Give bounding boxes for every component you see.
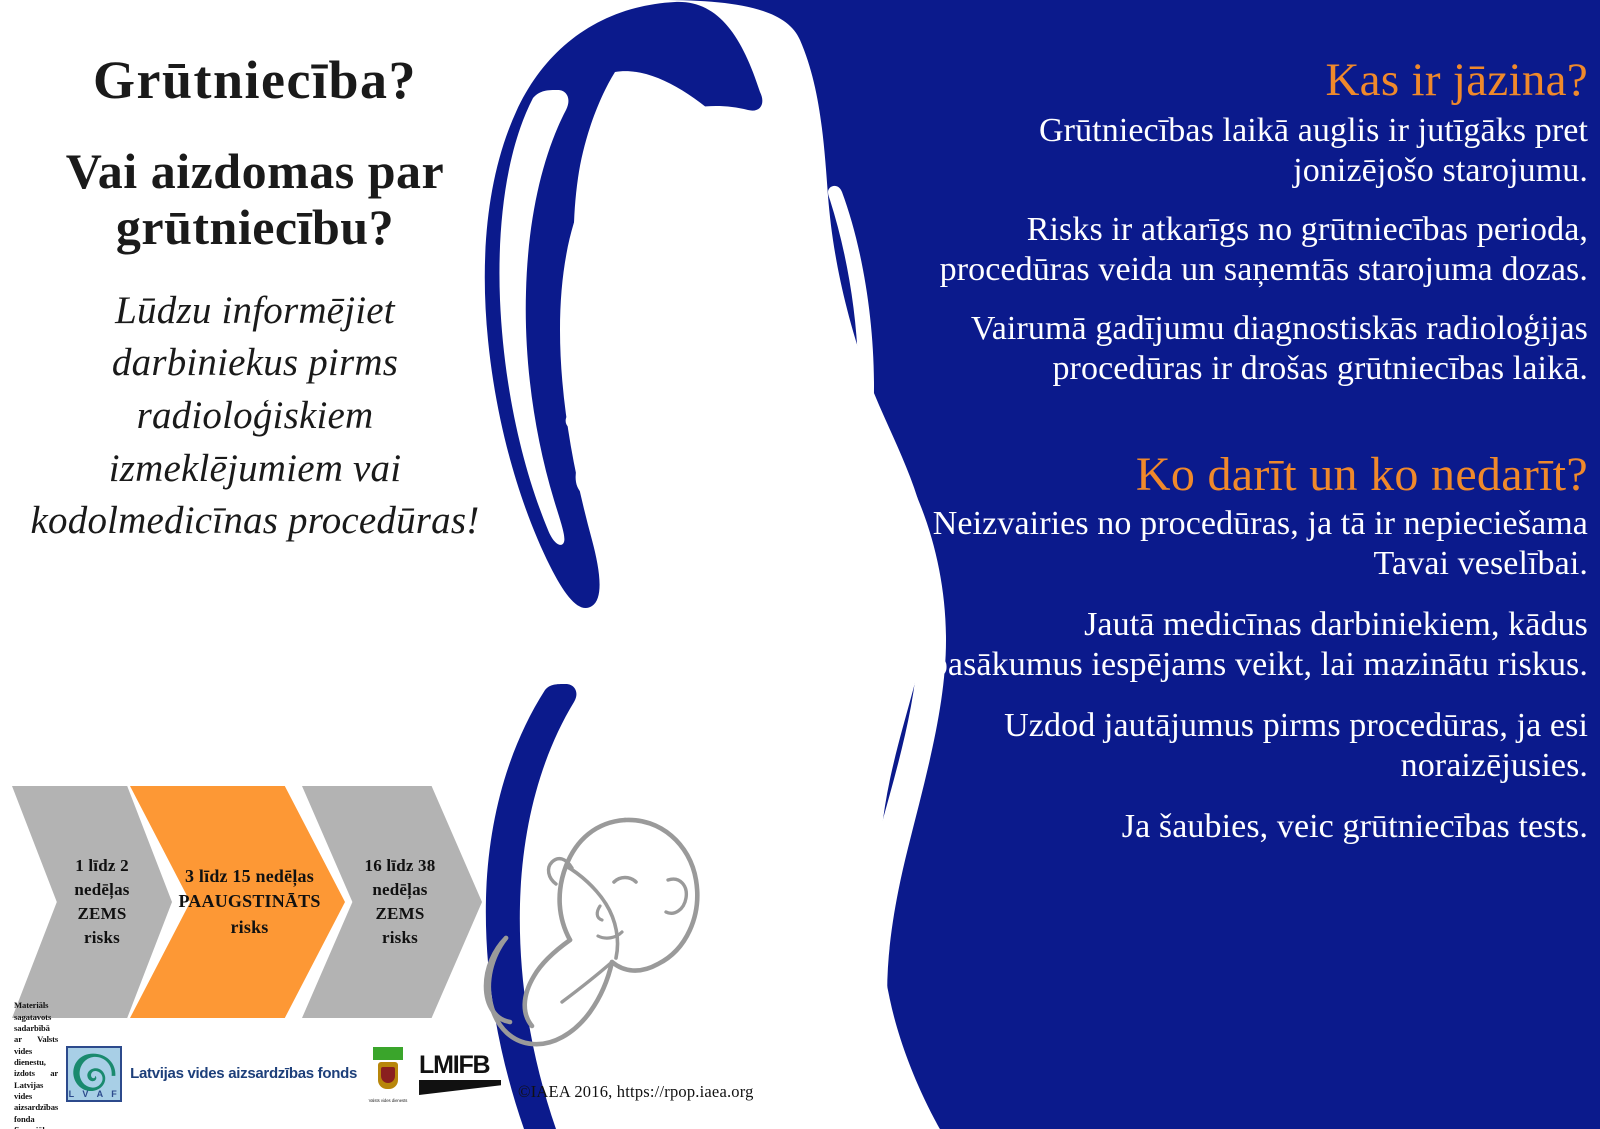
section-2-paragraph-2: Jautā medicīnas darbiniekiem, kādus pasā… bbox=[928, 605, 1588, 684]
vvd-crest-icon bbox=[378, 1062, 398, 1089]
section-what-to-know: Kas ir jāzina? Grūtniecības laikā auglis… bbox=[928, 56, 1588, 388]
vvd-logo-icon: Valsts vides dienests bbox=[365, 1045, 411, 1103]
section-2-paragraph-4: Ja šaubies, veic grūtniecības tests. bbox=[928, 807, 1588, 846]
risk-step-3-weeks-line1: 16 līdz 38 bbox=[365, 854, 436, 878]
page-title-line1: Grūtniecība? bbox=[20, 52, 490, 109]
logo-strip: Materiāls sagatavots sadarbībā ar Valsts… bbox=[14, 1036, 434, 1112]
funding-disclaimer-text: Materiāls sagatavots sadarbībā ar Valsts… bbox=[14, 1000, 58, 1129]
page-title-line2: Vai aizdomas par grūtniecību? bbox=[20, 143, 490, 255]
face-neck-shoulder bbox=[564, 71, 869, 654]
risk-step-1-weeks-line1: 1 līdz 2 bbox=[74, 854, 129, 878]
risk-step-3-label: 16 līdz 38 nedēļas ZEMS risks bbox=[365, 854, 436, 951]
lvaf-letters: L V A F bbox=[68, 1089, 120, 1099]
section-1-heading: Kas ir jāzina? bbox=[928, 56, 1588, 105]
section-2-paragraph-1: Neizvairies no procedūras, ja tā ir nepi… bbox=[928, 504, 1588, 583]
lvaf-wordmark: Latvijas vides aizsardzības fonds bbox=[130, 1066, 357, 1081]
risk-step-1-level: ZEMS bbox=[74, 902, 129, 926]
risk-step-1-risk: risks bbox=[74, 926, 129, 950]
risk-step-3-risk: risks bbox=[365, 926, 436, 950]
section-1-paragraph-2: Risks ir atkarīgs no grūtniecības period… bbox=[928, 210, 1588, 289]
poster-root: Grūtniecība? Vai aizdomas par grūtniecīb… bbox=[0, 0, 1600, 1129]
section-2-heading: Ko darīt un ko nedarīt? bbox=[928, 450, 1588, 500]
risk-step-2-label: 3 līdz 15 nedēļas PAAUGSTINĀTS risks bbox=[178, 864, 320, 941]
page-subtitle: Lūdzu informējiet darbiniekus pirms radi… bbox=[20, 285, 490, 548]
lmifb-wordmark: LMIFB bbox=[419, 1053, 501, 1078]
section-1-paragraph-1: Grūtniecības laikā auglis ir jutīgāks pr… bbox=[928, 111, 1588, 190]
risk-step-1-label: 1 līdz 2 nedēļas ZEMS risks bbox=[74, 854, 129, 951]
right-text-column: Kas ir jāzina? Grūtniecības laikā auglis… bbox=[928, 56, 1588, 868]
risk-timeline-chart: 1 līdz 2 nedēļas ZEMS risks 3 līdz 15 ne… bbox=[12, 786, 482, 1018]
vvd-caption: Valsts vides dienests bbox=[365, 1098, 411, 1103]
copyright-notice: ©IAEA 2016, https://rpop.iaea.org bbox=[518, 1082, 754, 1102]
risk-step-3-weeks-line2: nedēļas bbox=[365, 878, 436, 902]
risk-step-2-level: PAAUGSTINĀTS bbox=[178, 889, 320, 915]
lvaf-logo-icon: L V A F bbox=[66, 1046, 122, 1102]
lmifb-logo: LMIFB bbox=[419, 1053, 501, 1095]
risk-step-3: 16 līdz 38 nedēļas ZEMS risks bbox=[302, 786, 482, 1018]
vvd-green-bar bbox=[373, 1047, 403, 1060]
risk-step-2-risk: risks bbox=[178, 915, 320, 941]
lmifb-wedge-icon bbox=[419, 1080, 501, 1095]
risk-step-1-weeks-line2: nedēļas bbox=[74, 878, 129, 902]
risk-step-3-level: ZEMS bbox=[365, 902, 436, 926]
risk-step-2-weeks-line1: 3 līdz 15 nedēļas bbox=[178, 864, 320, 890]
section-dos-and-donts: Ko darīt un ko nedarīt? Neizvairies no p… bbox=[928, 450, 1588, 846]
section-1-paragraph-3: Vairumā gadījumu diagnostiskās radioloģi… bbox=[928, 309, 1588, 388]
left-text-column: Grūtniecība? Vai aizdomas par grūtniecīb… bbox=[20, 52, 490, 548]
section-2-paragraph-3: Uzdod jautājumus pirms procedūras, ja es… bbox=[928, 706, 1588, 785]
